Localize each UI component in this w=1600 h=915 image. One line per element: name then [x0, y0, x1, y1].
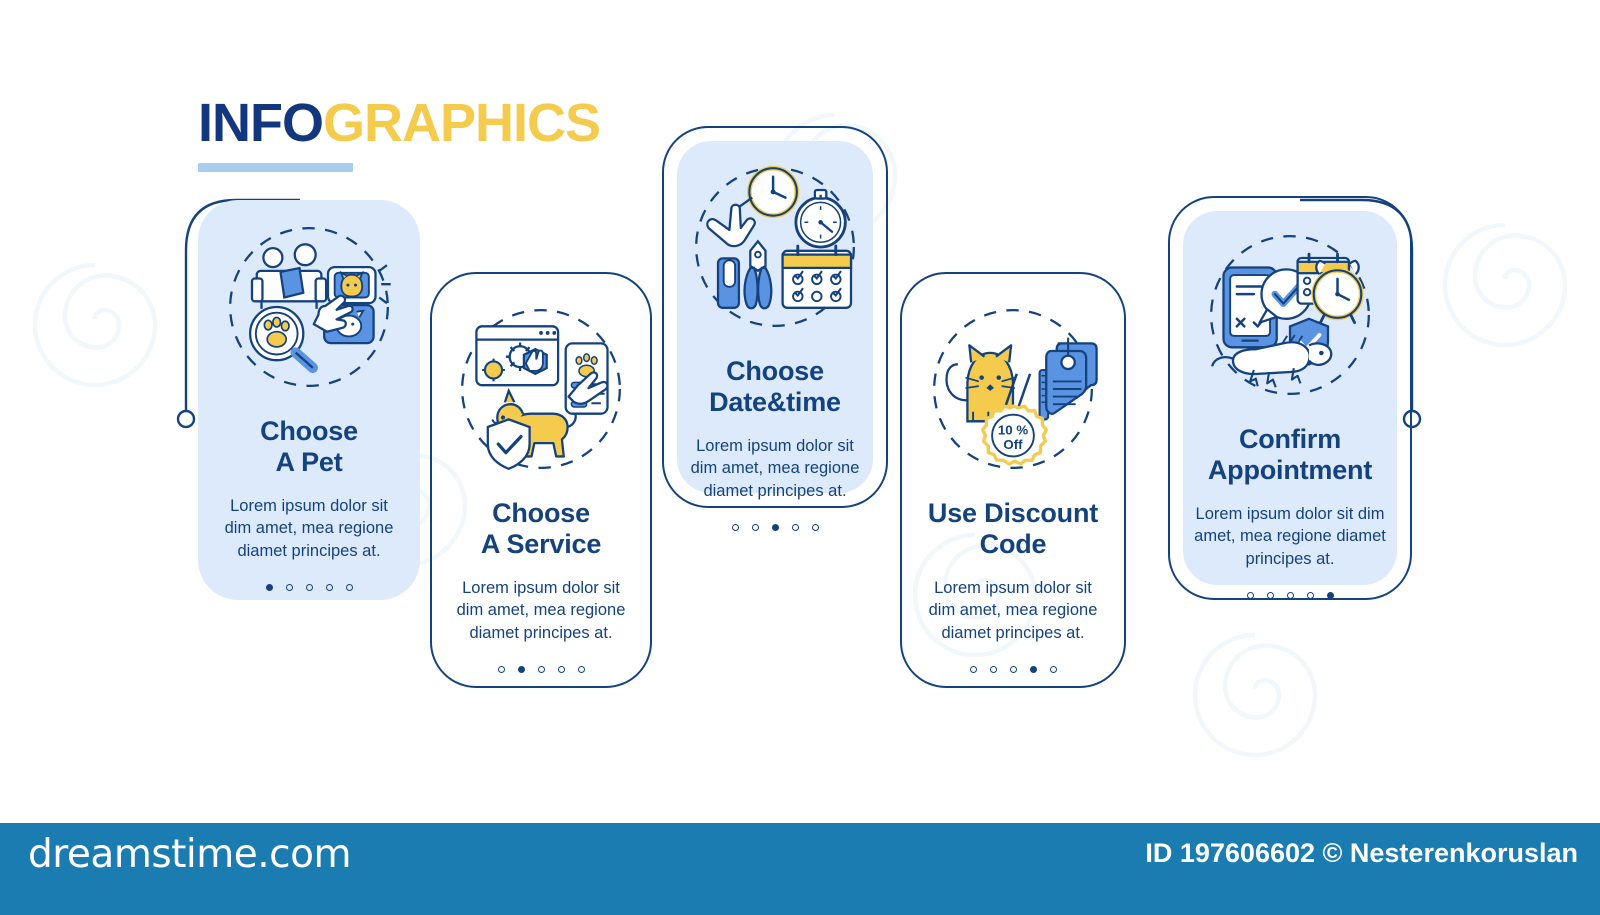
step-indicator-dots[interactable] — [198, 584, 420, 591]
step-indicator-dots[interactable] — [430, 666, 652, 673]
dot-1[interactable] — [732, 524, 739, 531]
step-indicator-dots[interactable] — [900, 666, 1126, 673]
dot-3[interactable] — [772, 524, 779, 531]
discount-badge-line-1: 10 % — [998, 423, 1028, 438]
card-title-line-2: A Service — [430, 529, 652, 560]
dot-1[interactable] — [266, 584, 273, 591]
dot-2[interactable] — [286, 584, 293, 591]
dot-5[interactable] — [812, 524, 819, 531]
dot-1[interactable] — [1247, 592, 1254, 599]
card-description: Lorem ipsum dolor sit dim amet, mea regi… — [900, 577, 1126, 644]
card-title-line-2: Date&time — [662, 387, 888, 418]
dot-4[interactable] — [326, 584, 333, 591]
discount-badge-line-2: Off — [1003, 437, 1023, 452]
dot-3[interactable] — [538, 666, 545, 673]
dot-5[interactable] — [1050, 666, 1057, 673]
step-card-4[interactable]: 10 % Off Use Discount Code Lorem ipsum d… — [900, 272, 1126, 688]
dreamstime-logo-text: dreamstime.com — [28, 832, 351, 877]
page-title: INFOGRAPHICS — [198, 96, 600, 172]
card-title-line-1: Choose — [662, 356, 888, 387]
dot-1[interactable] — [970, 666, 977, 673]
infographic-canvas: INFOGRAPHICS — [0, 0, 1600, 915]
card-title-line-2: Appointment — [1168, 455, 1412, 486]
dot-2[interactable] — [752, 524, 759, 531]
card-description: Lorem ipsum dolor sit dim amet, mea regi… — [430, 577, 652, 644]
choose-date-and-time-icon — [662, 152, 888, 342]
image-credit: ID 197606602 © Nesterenkoruslan — [1145, 838, 1578, 869]
dot-2[interactable] — [518, 666, 525, 673]
use-discount-code-icon: 10 % Off — [900, 294, 1126, 484]
dot-5[interactable] — [1327, 592, 1334, 599]
step-card-3[interactable]: Choose Date&time Lorem ipsum dolor sit d… — [662, 126, 888, 508]
choose-a-service-icon — [430, 294, 652, 484]
card-title-line-1: Choose — [430, 498, 652, 529]
card-description: Lorem ipsum dolor sit dim amet, mea regi… — [198, 495, 420, 562]
step-card-1[interactable]: Choose A Pet Lorem ipsum dolor sit dim a… — [198, 200, 420, 600]
page-title-part-two: GRAPHICS — [323, 93, 600, 153]
watermark-spiral — [20, 250, 170, 400]
dot-4[interactable] — [792, 524, 799, 531]
step-card-2[interactable]: Choose A Service Lorem ipsum dolor sit d… — [430, 272, 652, 688]
dot-3[interactable] — [1287, 592, 1294, 599]
dot-2[interactable] — [990, 666, 997, 673]
card-description: Lorem ipsum dolor sit dim amet, mea regi… — [1168, 503, 1412, 570]
dot-2[interactable] — [1267, 592, 1274, 599]
watermark-spiral — [1180, 620, 1330, 770]
dot-4[interactable] — [1307, 592, 1314, 599]
page-title-part-one: INFO — [198, 93, 323, 153]
card-title-line-1: Choose — [198, 416, 420, 447]
step-indicator-dots[interactable] — [662, 524, 888, 531]
dot-4[interactable] — [1030, 666, 1037, 673]
card-description: Lorem ipsum dolor sit dim amet, mea regi… — [662, 435, 888, 502]
confirm-appointment-icon — [1168, 220, 1412, 410]
dot-1[interactable] — [498, 666, 505, 673]
card-title-line-2: A Pet — [198, 447, 420, 478]
dot-3[interactable] — [1010, 666, 1017, 673]
choose-a-pet-icon — [198, 212, 420, 402]
dot-5[interactable] — [578, 666, 585, 673]
card-title-line-2: Code — [900, 529, 1126, 560]
card-title-line-1: Confirm — [1168, 424, 1412, 455]
watermark-spiral — [1430, 210, 1580, 360]
dreamstime-logo[interactable]: dreamstime.com — [28, 832, 351, 892]
dot-5[interactable] — [346, 584, 353, 591]
step-card-5[interactable]: Confirm Appointment Lorem ipsum dolor si… — [1168, 196, 1412, 600]
dot-3[interactable] — [306, 584, 313, 591]
dot-4[interactable] — [558, 666, 565, 673]
card-title-line-1: Use Discount — [900, 498, 1126, 529]
step-indicator-dots[interactable] — [1168, 592, 1412, 599]
title-underline — [198, 163, 353, 172]
